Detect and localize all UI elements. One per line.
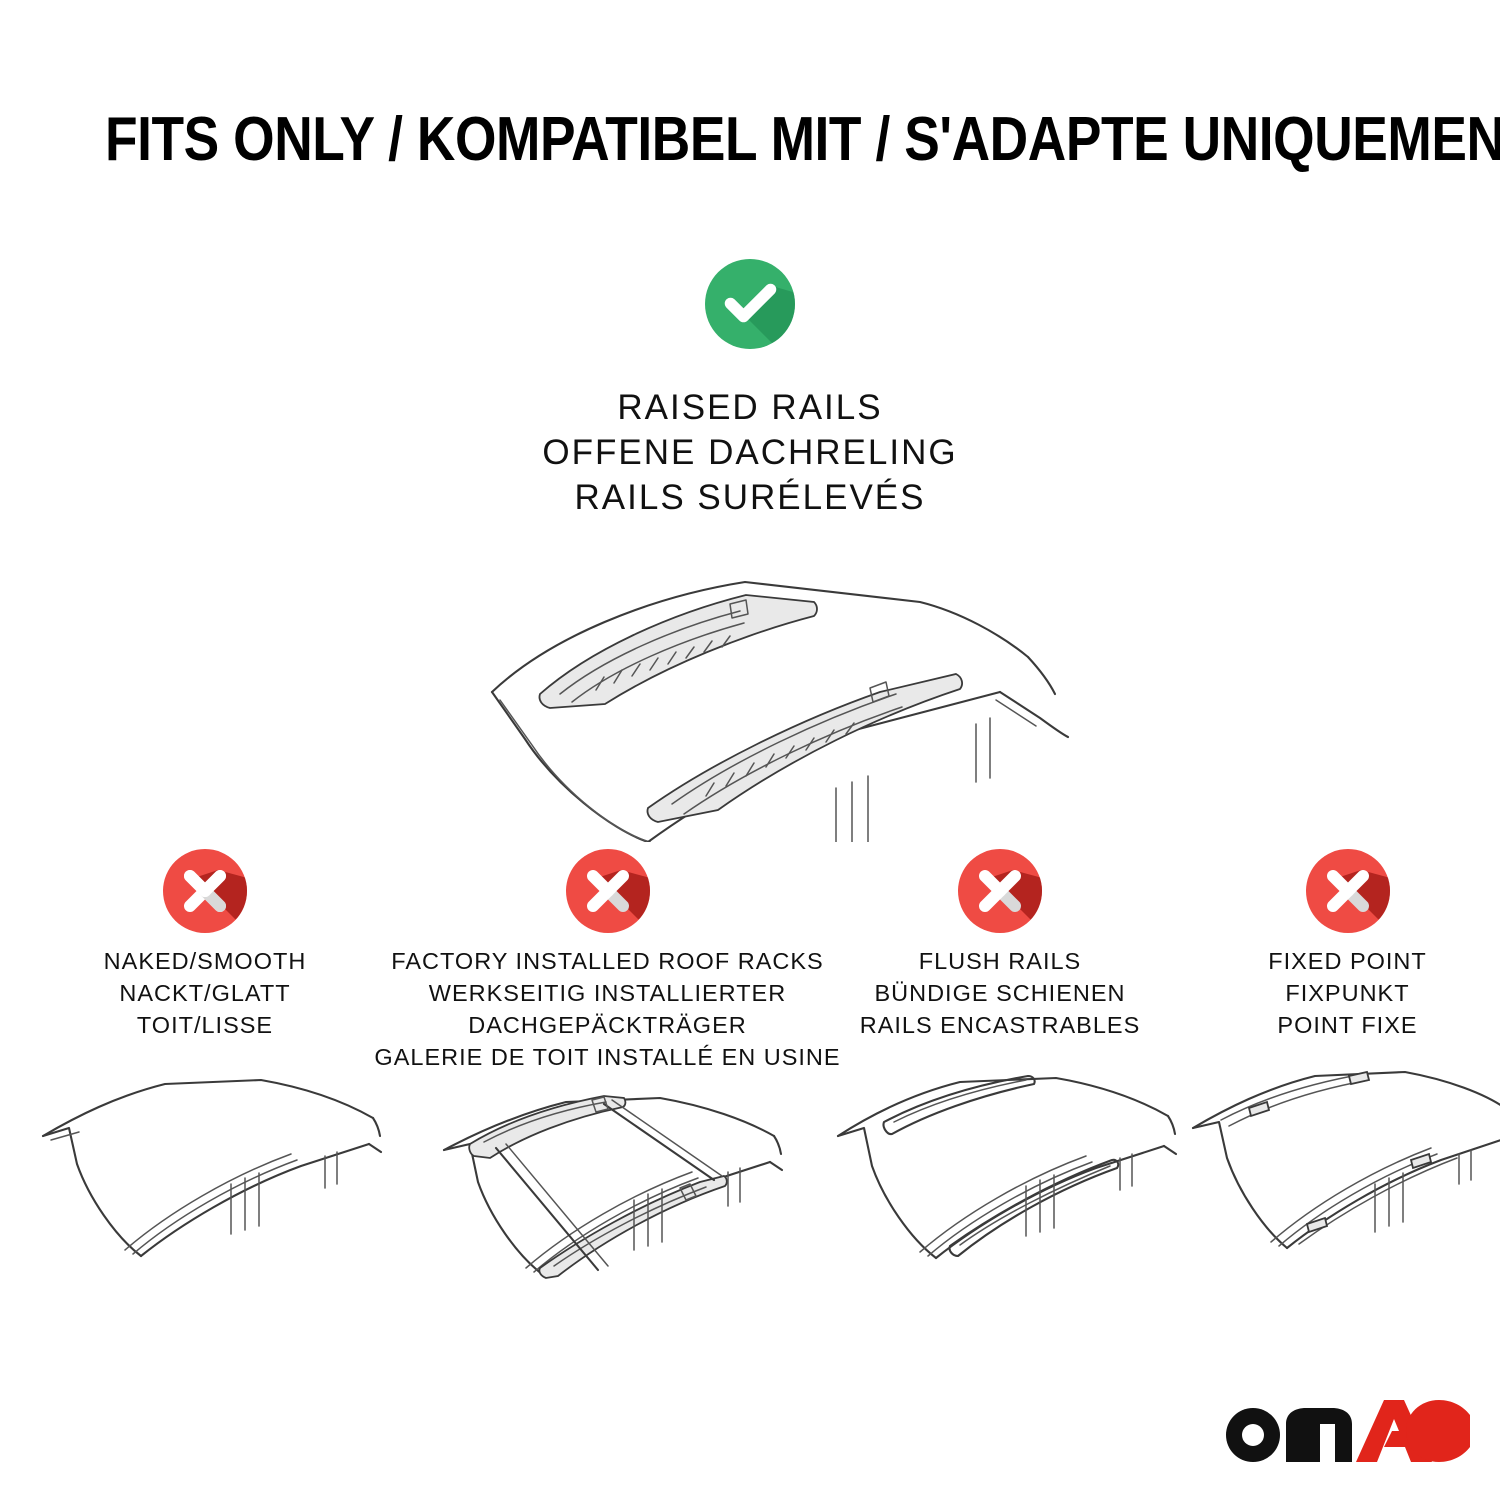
omac-logo [1222, 1398, 1472, 1464]
car-roof-flush-rails-illustration [820, 1056, 1180, 1276]
car-roof-naked-smooth-illustration [25, 1056, 385, 1276]
label-line-2: NACKT/GLATT [104, 978, 307, 1010]
label-line-2: WERKSEITIG INSTALLIERTER [374, 978, 840, 1010]
label-line-1: NAKED/SMOOTH [104, 946, 307, 978]
label-line-2: BÜNDIGE SCHIENEN [860, 978, 1141, 1010]
cross-circle-icon [1305, 848, 1391, 934]
car-roof-fixed-point-illustration [1183, 1056, 1500, 1276]
label-line-1: FIXED POINT [1268, 946, 1427, 978]
cross-circle-icon [957, 848, 1043, 934]
cross-circle-icon [565, 848, 651, 934]
incompatible-grid: NAKED/SMOOTH NACKT/GLATT TOIT/LISSE [0, 848, 1500, 1308]
logo-letter-m [1286, 1408, 1352, 1462]
label-line-3: TOIT/LISSE [104, 1010, 307, 1042]
car-roof-factory-roof-racks-illustration [428, 1088, 788, 1308]
compatible-label-de: OFFENE DACHRELING [542, 431, 957, 476]
logo-letter-o [1226, 1408, 1280, 1462]
compatible-section: RAISED RAILS OFFENE DACHRELING RAILS SUR… [0, 258, 1500, 842]
compatible-label-fr: RAILS SURÉLEVÉS [542, 476, 957, 521]
cross-circle-icon [162, 848, 248, 934]
car-roof-raised-rails-illustration [400, 542, 1100, 842]
label-line-4: GALERIE DE TOIT INSTALLÉ EN USINE [374, 1042, 840, 1074]
page-title: FITS ONLY / KOMPATIBEL MIT / S'ADAPTE UN… [105, 104, 1395, 175]
incompatible-labels: NAKED/SMOOTH NACKT/GLATT TOIT/LISSE [104, 946, 307, 1042]
label-line-3: RAILS ENCASTRABLES [860, 1010, 1141, 1042]
label-line-1: FACTORY INSTALLED ROOF RACKS [374, 946, 840, 978]
label-line-1: FLUSH RAILS [860, 946, 1141, 978]
incompatible-item-factory-roof-racks: FACTORY INSTALLED ROOF RACKS WERKSEITIG … [410, 848, 805, 1308]
incompatible-labels: FIXED POINT FIXPUNKT POINT FIXE [1268, 946, 1427, 1042]
compatible-label-en: RAISED RAILS [542, 386, 957, 431]
compatible-labels: RAISED RAILS OFFENE DACHRELING RAILS SUR… [542, 386, 957, 520]
incompatible-item-naked-smooth: NAKED/SMOOTH NACKT/GLATT TOIT/LISSE [0, 848, 410, 1276]
incompatible-item-flush-rails: FLUSH RAILS BÜNDIGE SCHIENEN RAILS ENCAS… [805, 848, 1195, 1276]
logo-letter-C [1406, 1400, 1470, 1462]
incompatible-labels: FLUSH RAILS BÜNDIGE SCHIENEN RAILS ENCAS… [860, 946, 1141, 1042]
check-circle-icon [704, 258, 796, 350]
incompatible-labels: FACTORY INSTALLED ROOF RACKS WERKSEITIG … [374, 946, 840, 1074]
label-line-3: DACHGEPÄCKTRÄGER [374, 1010, 840, 1042]
incompatible-item-fixed-point: FIXED POINT FIXPUNKT POINT FIXE [1195, 848, 1500, 1276]
label-line-2: FIXPUNKT [1268, 978, 1427, 1010]
label-line-3: POINT FIXE [1268, 1010, 1427, 1042]
